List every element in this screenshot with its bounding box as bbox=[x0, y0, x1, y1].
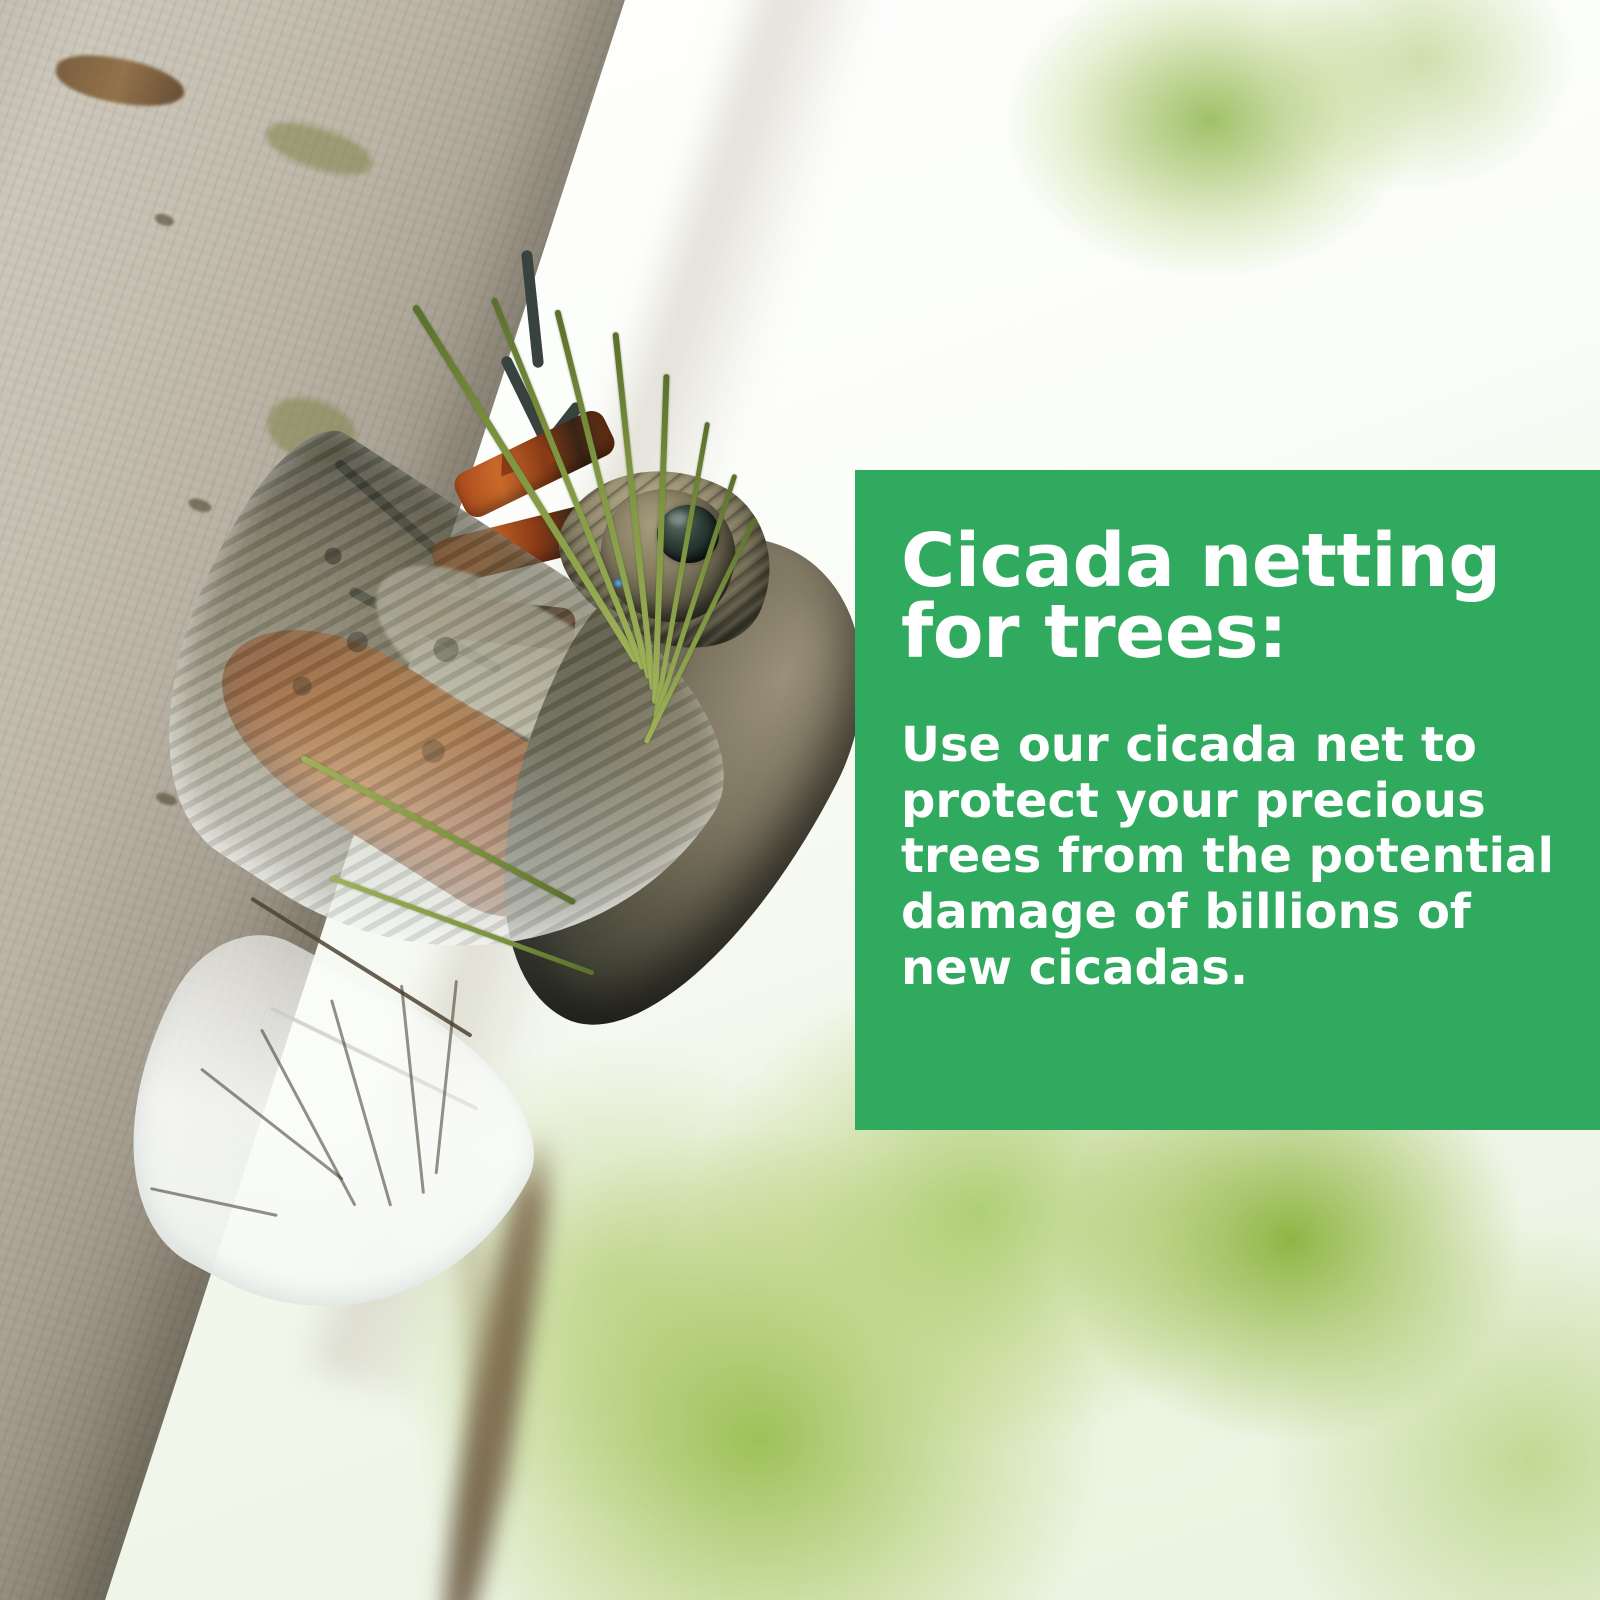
poster-canvas: Cicada netting for trees: Use our cicada… bbox=[0, 0, 1600, 1600]
promo-text-panel: Cicada netting for trees: Use our cicada… bbox=[855, 470, 1600, 1130]
promo-body-text: Use our cicada net to protect your preci… bbox=[901, 718, 1556, 996]
page-title: Cicada netting for trees: bbox=[901, 526, 1556, 668]
